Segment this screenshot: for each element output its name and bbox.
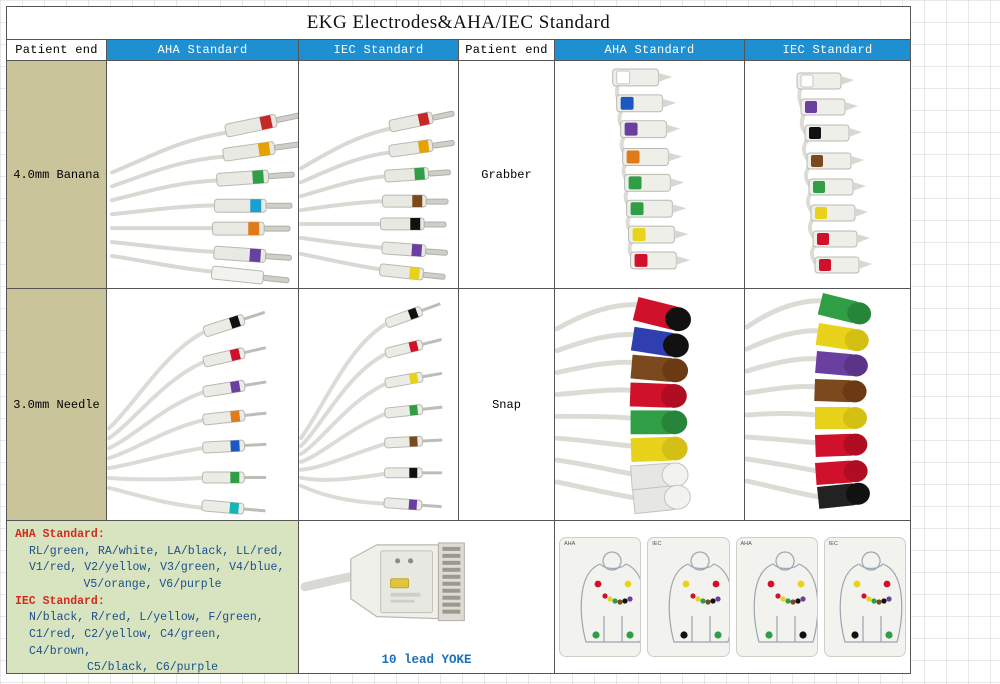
placement-card: IEC	[647, 537, 729, 657]
table-row: AHA Standard: RL/green, RA/white, LA/bla…	[7, 521, 910, 673]
header-patient-end-2: Patient end	[459, 40, 555, 60]
table-header-row: Patient end AHA Standard IEC Standard Pa…	[7, 40, 910, 61]
page-title: EKG Electrodes&AHA/IEC Standard	[307, 12, 611, 34]
header-patient-end-1: Patient end	[7, 40, 107, 60]
iec-banana-illustration	[299, 61, 458, 288]
legend-iec-heading: IEC Standard:	[15, 594, 290, 611]
electrode-placement-diagrams: AHA	[555, 521, 910, 673]
image-aha-grabber	[555, 61, 745, 288]
legend-iec-line-1: N/black, R/red, L/yellow, F/green,	[15, 610, 290, 627]
standards-legend: AHA Standard: RL/green, RA/white, LA/bla…	[7, 521, 299, 673]
image-aha-snap	[555, 289, 745, 520]
image-aha-needle	[107, 289, 299, 520]
yoke-illustration	[299, 521, 554, 672]
body-diagram	[825, 538, 906, 656]
image-iec-grabber	[745, 61, 910, 288]
aha-snap-illustration	[555, 289, 744, 520]
header-iec-standard-1: IEC Standard	[299, 40, 459, 60]
row-label-snap: Snap	[459, 289, 555, 520]
legend-aha-line-1: RL/green, RA/white, LA/black, LL/red,	[15, 544, 290, 561]
image-iec-snap	[745, 289, 910, 520]
card-tag: AHA	[564, 541, 575, 547]
iec-grabber-illustration	[745, 61, 910, 288]
placement-card: AHA	[736, 537, 818, 657]
legend-iec-line-3: C5/black, C6/purple	[15, 660, 290, 673]
legend-aha-line-2: V1/red, V2/yellow, V3/green, V4/blue,	[15, 560, 290, 577]
header-aha-standard-1: AHA Standard	[107, 40, 299, 60]
table-row: 3.0mm Needle	[7, 289, 910, 521]
legend-aha-heading: AHA Standard:	[15, 527, 290, 544]
row-label-needle: 3.0mm Needle	[7, 289, 107, 520]
placement-card: AHA	[559, 537, 641, 657]
image-10-lead-yoke: 10 lead YOKE	[299, 521, 555, 673]
card-tag: IEC	[829, 541, 838, 547]
image-aha-banana	[107, 61, 299, 288]
legend-iec-line-2: C1/red, C2/yellow, C4/green, C4/brown,	[15, 627, 290, 660]
legend-aha-line-3: V5/orange, V6/purple	[15, 577, 290, 594]
aha-banana-illustration	[107, 61, 298, 288]
body-diagram	[560, 538, 641, 656]
page-title-row: EKG Electrodes&AHA/IEC Standard	[7, 7, 910, 40]
card-tag: AHA	[741, 541, 752, 547]
header-iec-standard-2: IEC Standard	[745, 40, 910, 60]
body-diagram	[648, 538, 729, 656]
table-row: 4.0mm Banana	[7, 61, 910, 289]
image-iec-banana	[299, 61, 459, 288]
placement-card: IEC	[824, 537, 906, 657]
row-label-banana: 4.0mm Banana	[7, 61, 107, 288]
aha-needle-illustration	[107, 289, 298, 520]
row-label-grabber: Grabber	[459, 61, 555, 288]
yoke-caption: 10 lead YOKE	[299, 653, 554, 667]
header-aha-standard-2: AHA Standard	[555, 40, 745, 60]
body-diagram	[737, 538, 818, 656]
aha-grabber-illustration	[555, 61, 744, 288]
iec-snap-illustration	[745, 289, 910, 520]
card-tag: IEC	[652, 541, 661, 547]
document-page: EKG Electrodes&AHA/IEC Standard Patient …	[6, 6, 911, 674]
image-iec-needle	[299, 289, 459, 520]
iec-needle-illustration	[299, 289, 458, 520]
